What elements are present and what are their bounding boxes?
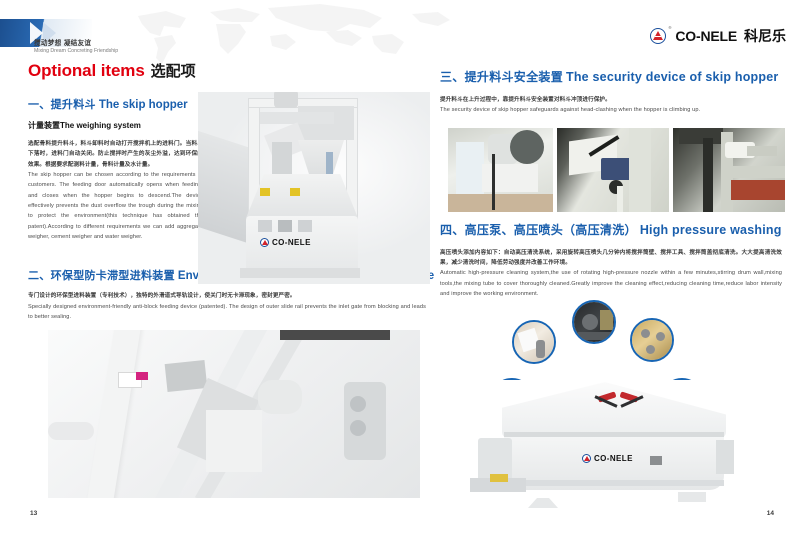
world-map-watermark [120, 2, 480, 68]
section-1-heading-cn: 一、提升料斗 [28, 99, 96, 111]
section-4-body-en: Automatic high-pressure cleaning system,… [440, 268, 782, 299]
mixer-brand-text: CO-NELE [594, 454, 633, 463]
co-nele-emblem-icon [650, 28, 666, 44]
rotating-head-closeup [630, 318, 674, 362]
section-1-heading-en: The skip hopper [99, 99, 188, 111]
brand-name-en: CO-NELE [675, 28, 737, 44]
section-1-body-cn: 选配骨料提升料斗，料斗卸料时自动打开搅拌机上的进料门。当料斗下落时，进料门自动关… [28, 139, 203, 170]
page-number-right: 14 [767, 510, 774, 517]
slogan-en: Mixing Dream Concreting Friendship [34, 49, 118, 54]
security-device-photo-3 [673, 128, 785, 212]
page-title-en: Optional items [28, 61, 145, 80]
machine-brand-logo: CO-NELE [260, 238, 311, 247]
trademark-symbol: ® [668, 25, 671, 30]
section-1-body-en: The skip hopper can be chosen according … [28, 170, 203, 242]
page-title: Optional items选配项 [28, 60, 426, 81]
header-logo-right: ® CO-NELE 科尼乐 [650, 24, 786, 48]
section-3-heading-cn: 三、提升料斗安全装置 [440, 70, 563, 84]
page-title-cn: 选配项 [151, 63, 196, 80]
anti-block-feeding-device-photo [48, 330, 420, 498]
header-logo-left: 搅动梦想 凝结友谊 Mixing Dream Concreting Friend… [0, 19, 100, 47]
section-4-heading-en: High pressure washing [640, 223, 782, 237]
page-number-left: 13 [30, 510, 37, 517]
brand-name-cn: 科尼乐 [744, 26, 786, 46]
section-4-heading-cn: 四、高压泵、高压喷头（高压清洗） [440, 223, 637, 237]
section-4-body-cn: 高压喷头添加内容如下：自动高压清洗系统，采用旋转高压喷头几分钟内将搅拌筒壁、搅拌… [440, 248, 782, 269]
section-4-heading: 四、高压泵、高压喷头（高压清洗）High pressure washing [440, 221, 782, 239]
section-3-body-en: The security device of skip hopper safeg… [440, 105, 782, 115]
section-2-body-cn: 专门设计的环保型进料装置（专利技术），独特的外滑道式导轨设计，使关门时无卡滞现象… [28, 291, 426, 301]
security-device-photo-2 [557, 128, 669, 212]
section-2-heading-cn: 二、环保型防卡滞型进料装置 [28, 270, 175, 282]
slogan-cn: 搅动梦想 凝结友谊 [34, 41, 118, 48]
skip-hopper-machine-photo: CO-NELE [198, 92, 430, 284]
security-device-photo-1 [448, 128, 553, 212]
section-3-heading-en: The security device of skip hopper [566, 70, 778, 84]
mixer-brand-logo: CO-NELE [582, 454, 633, 463]
nozzle-closeup-1 [512, 320, 556, 364]
section-3-body-cn: 提升料斗在上升过程中，靠提升料斗安全装置对料斗冲顶进行保护。 [440, 95, 782, 105]
company-slogan: 搅动梦想 凝结友谊 Mixing Dream Concreting Friend… [34, 41, 118, 55]
section-2-body-en: Specially designed environment-friendly … [28, 302, 426, 323]
co-nele-planetary-mixer-photo: CO-NELE [470, 380, 760, 510]
pump-unit-closeup [572, 300, 616, 344]
section-3-heading: 三、提升料斗安全装置The security device of skip ho… [440, 68, 782, 86]
brochure-spread: 搅动梦想 凝结友谊 Mixing Dream Concreting Friend… [0, 0, 800, 543]
